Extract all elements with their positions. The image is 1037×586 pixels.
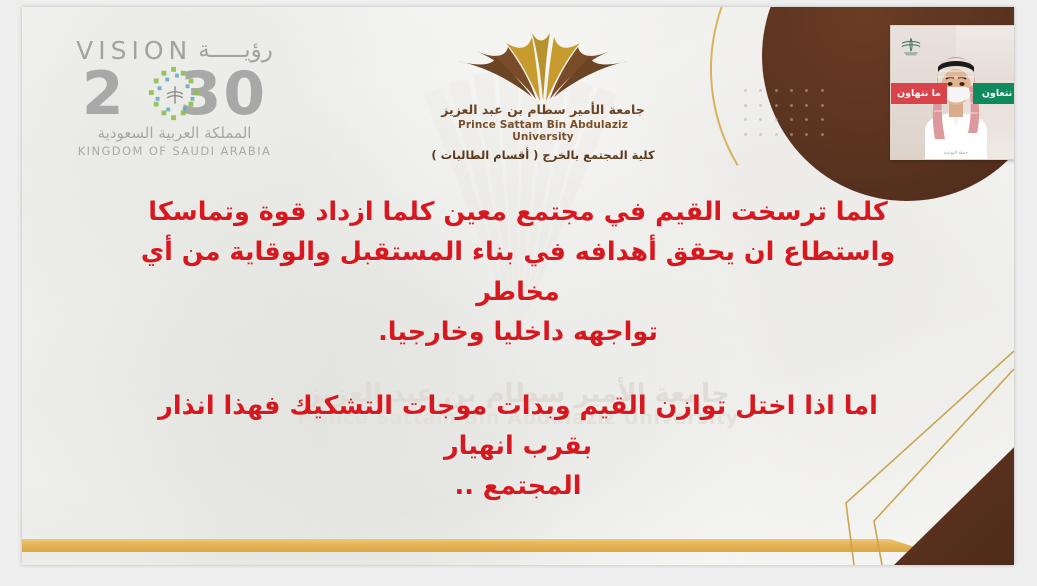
screenshot-stage: VISION رؤيـــــة 2 30: [0, 0, 1037, 586]
poster-band-right-label: نتعاون: [982, 88, 1012, 99]
bottom-gold-bar: [22, 539, 1014, 552]
vision-kingdom-en: KINGDOM OF SAUDI ARABIA: [67, 144, 282, 158]
university-name-ar: جامعة الأمير سطام بن عبد العزيز: [428, 102, 658, 117]
presentation-slide: VISION رؤيـــــة 2 30: [22, 7, 1014, 565]
vision-year: 2 30: [67, 65, 282, 123]
body-line-2: واستطاع ان يحقق أهدافه في بناء المستقبل …: [52, 232, 984, 272]
university-name-en: Prince Sattam Bin Abdulaziz University: [428, 119, 658, 143]
body-line-3: مخاطر: [52, 272, 984, 312]
body-line-6: بقرب انهيار: [52, 426, 984, 466]
poster-band-left: ما نتهاون: [891, 83, 947, 104]
body-line-1: كلما ترسخت القيم في مجتمع معين كلما ازدا…: [52, 192, 984, 232]
body-line-7: المجتمع ..: [52, 466, 984, 506]
poster-band-right: نتعاون: [973, 83, 1014, 104]
college-name-ar: كلية المجتمع بالخرج ( أقسام الطالبات ): [428, 148, 658, 162]
palm-and-swords-emblem: [146, 65, 204, 123]
body-line-4: تواجهه داخليا وخارجيا.: [52, 312, 984, 352]
paragraph-gap: [52, 352, 984, 386]
poster-caption: حملة التوعية: [891, 151, 1014, 156]
university-logo: جامعة الأمير سطام بن عبد العزيز Prince S…: [428, 29, 658, 161]
covid-awareness-poster: ما نتهاون نتعاون حملة التوعية: [890, 25, 1014, 160]
vision-2030-logo: VISION رؤيـــــة 2 30: [67, 35, 282, 165]
vision-year-left: 2: [82, 65, 126, 123]
poster-band-left-label: ما نتهاون: [897, 88, 941, 99]
body-line-5: اما اذا اختل توازن القيم وبدات موجات الت…: [52, 386, 984, 426]
open-book-logo: [428, 29, 658, 99]
dot-grid-pattern: [744, 89, 836, 147]
slide-body-text: كلما ترسخت القيم في مجتمع معين كلما ازدا…: [52, 192, 984, 506]
